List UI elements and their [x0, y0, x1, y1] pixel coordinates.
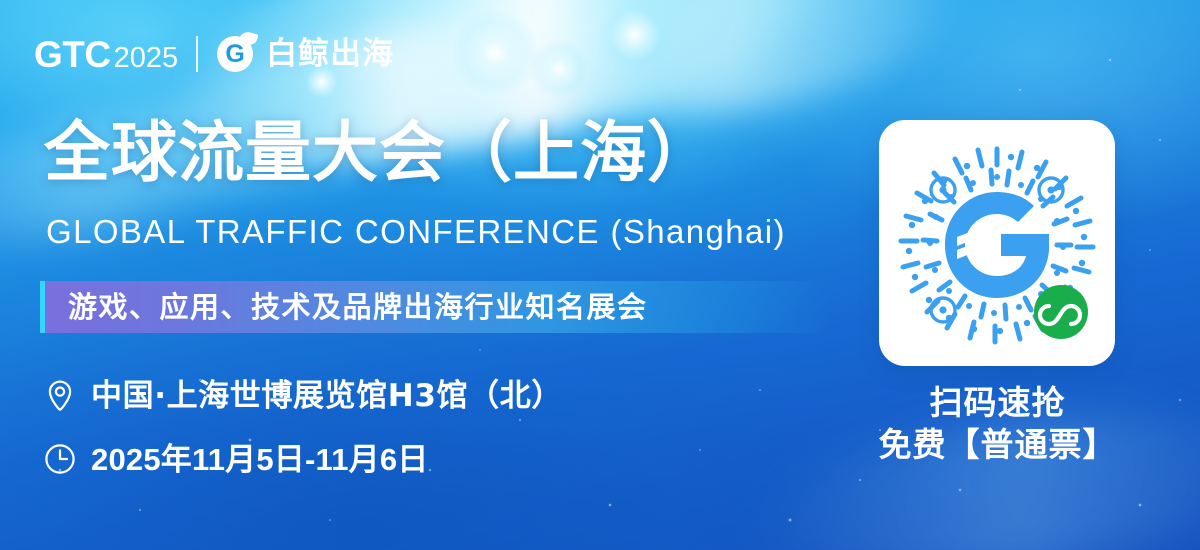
qr-cta-line1: 扫码速抢: [860, 382, 1135, 424]
logo-bar: GTC 2025 G 白鲸出海: [34, 30, 394, 78]
date-row: 2025年11月5日-11月6日: [42, 441, 429, 477]
promo-banner: GTC 2025 G 白鲸出海 全球流量大会（上海） GLOBAL TRAFFI…: [0, 0, 1200, 550]
qr-cta-text: 扫码速抢 免费【普通票】: [860, 382, 1135, 466]
star-glow: [600, 0, 670, 70]
wechat-miniprogram-badge-icon: [1034, 285, 1088, 339]
gtc-logo-year: 2025: [114, 44, 179, 73]
tagline-accent-edge: [40, 281, 45, 333]
qr-center-logo: [945, 192, 1049, 298]
brand-letter: G: [217, 36, 253, 72]
date-text: 2025年11月5日-11月6日: [91, 444, 429, 475]
wechat-miniprogram-qr-code[interactable]: [879, 120, 1115, 366]
page-title: 全球流量大会（上海）: [44, 118, 714, 188]
gtc-logo: GTC 2025: [34, 36, 178, 73]
venue-row: 中国·上海世博展览馆H3馆（北）: [42, 378, 563, 414]
qr-cta-line2: 免费【普通票】: [860, 424, 1135, 466]
whale-g-circle-icon: G: [217, 36, 253, 72]
venue-text: 中国·上海世博展览馆H3馆（北）: [91, 381, 563, 412]
clock-icon: [42, 441, 78, 477]
location-pin-icon: [42, 378, 78, 414]
brand-name: 白鲸出海: [266, 39, 394, 70]
star-glow: [530, 40, 588, 98]
vertical-divider: [196, 36, 198, 72]
page-subtitle: GLOBAL TRAFFIC CONFERENCE (Shanghai): [46, 214, 786, 250]
tagline-text: 游戏、应用、技术及品牌出海行业知名展会: [68, 293, 648, 322]
qr-code-card[interactable]: [879, 120, 1115, 366]
gtc-logo-main: GTC: [34, 36, 111, 73]
star-glow: [452, 10, 538, 96]
tagline-bar: 游戏、应用、技术及品牌出海行业知名展会: [40, 281, 830, 333]
